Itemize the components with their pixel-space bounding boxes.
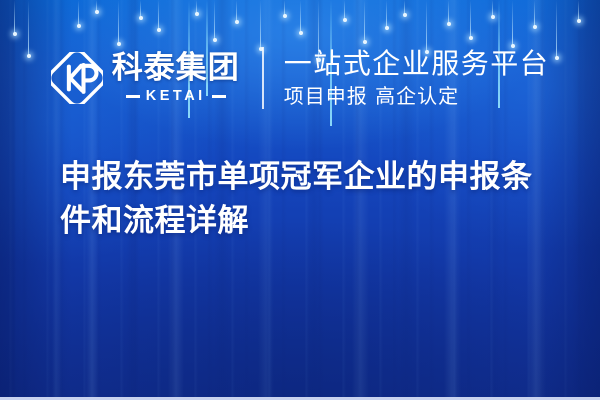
meteor-particle	[214, 0, 215, 40]
brand-name-en: KETAI	[126, 89, 226, 104]
meteor-particle	[364, 0, 365, 42]
meteor-particle	[78, 0, 79, 26]
headline-title: 申报东莞市单项冠军企业的申报条件和流程详解	[60, 155, 555, 243]
meteor-particle	[492, 0, 493, 17]
meteor-particle	[404, 0, 405, 15]
brand-lockup: 科泰集团 KETAI	[51, 52, 240, 104]
meteor-particle	[470, 0, 471, 38]
meteor-particle	[344, 0, 345, 20]
meteor-particle	[386, 0, 387, 28]
meteor-particle	[158, 0, 159, 30]
header-divider	[262, 47, 264, 109]
brand-name-cn: 科泰集团	[112, 53, 240, 84]
meteor-particle	[448, 0, 449, 24]
meteor-particle	[512, 0, 513, 46]
dash-left-icon	[126, 95, 140, 98]
meteor-particle	[118, 0, 119, 44]
meteor-particle	[236, 0, 237, 22]
banner-header: 科泰集团 KETAI 一站式企业服务平台 项目申报 高企认定	[0, 42, 600, 114]
meteor-particle	[300, 0, 301, 33]
slogan-main: 一站式企业服务平台	[284, 49, 550, 79]
meteor-particle	[196, 0, 197, 14]
meteor-particle	[140, 0, 141, 18]
meteor-particle	[284, 0, 285, 16]
meteor-particle	[578, 0, 579, 21]
brand-name-en-label: KETAI	[146, 89, 206, 104]
meteor-particle	[96, 0, 97, 12]
slogan-block: 一站式企业服务平台 项目申报 高企认定	[284, 49, 550, 106]
meteor-particle	[534, 0, 535, 27]
brand-text: 科泰集团 KETAI	[112, 53, 240, 104]
meteor-particle	[14, 0, 15, 34]
ketai-logo-icon	[51, 52, 103, 104]
promo-banner: 科泰集团 KETAI 一站式企业服务平台 项目申报 高企认定 申报东莞市单项冠军…	[0, 0, 600, 400]
slogan-sub: 项目申报 高企认定	[284, 85, 550, 107]
dash-right-icon	[212, 95, 226, 98]
